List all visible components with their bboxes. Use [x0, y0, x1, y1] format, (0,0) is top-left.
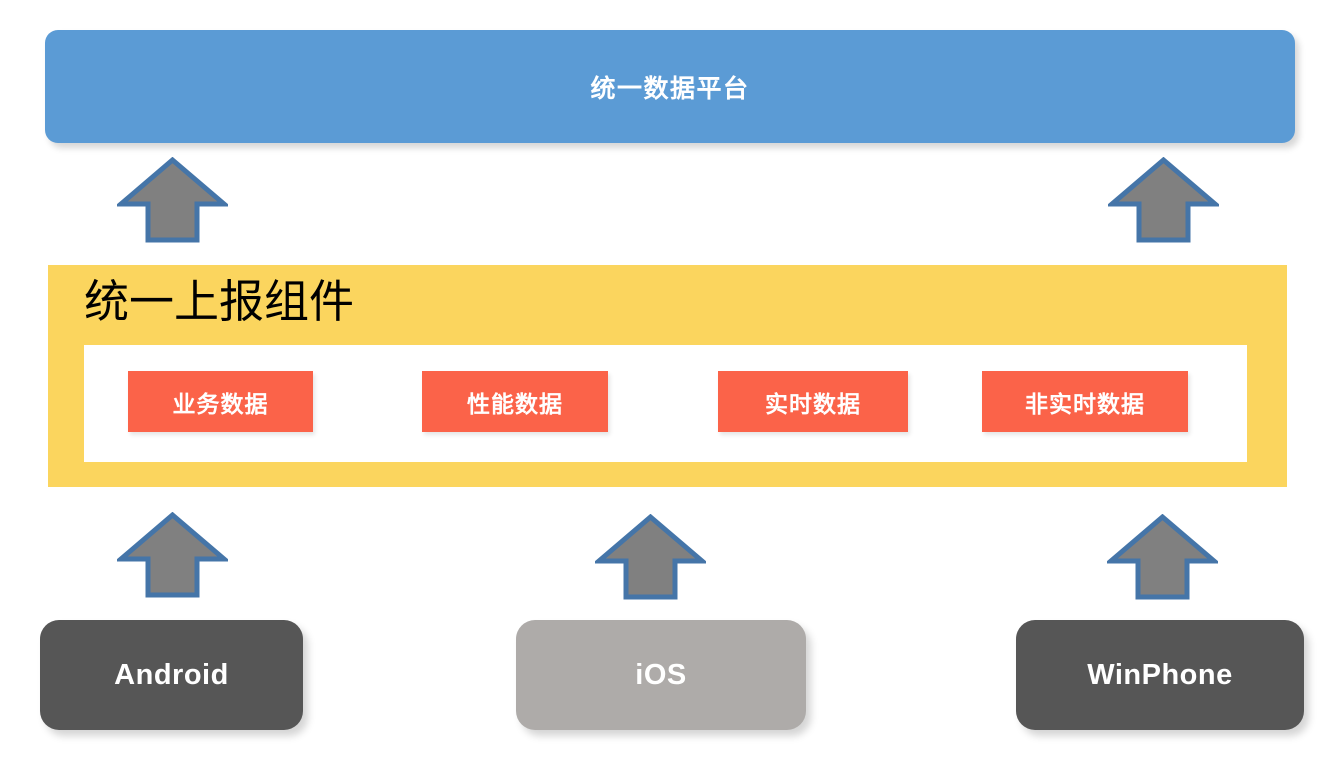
data-chip-label: 非实时数据	[1025, 385, 1145, 419]
arrow-up-icon-component-to-platform-right	[1108, 157, 1219, 243]
client-label: WinPhone	[1087, 659, 1233, 692]
arrow-up-icon-android-to-component	[117, 512, 228, 598]
data-chip-label: 性能数据	[467, 385, 563, 419]
unified-data-platform-label: 统一数据平台	[590, 69, 749, 105]
data-chip-realtime[interactable]: 实时数据	[718, 371, 908, 432]
client-label: Android	[114, 659, 229, 692]
unified-data-platform-box[interactable]: 统一数据平台	[45, 30, 1295, 143]
unified-reporting-component-title: 统一上报组件	[84, 273, 354, 331]
client-box-ios[interactable]: iOS	[516, 620, 806, 730]
client-box-winphone[interactable]: WinPhone	[1016, 620, 1304, 730]
data-chip-non-realtime[interactable]: 非实时数据	[982, 371, 1188, 432]
data-type-strip: 业务数据 性能数据 实时数据 非实时数据	[84, 345, 1247, 462]
data-chip-performance[interactable]: 性能数据	[422, 371, 608, 432]
client-label: iOS	[635, 659, 686, 692]
data-chip-business[interactable]: 业务数据	[128, 371, 313, 432]
client-box-android[interactable]: Android	[40, 620, 303, 730]
data-chip-label: 实时数据	[765, 385, 861, 419]
arrow-up-icon-component-to-platform-left	[117, 157, 228, 243]
arrow-up-icon-winphone-to-component	[1107, 514, 1218, 600]
unified-reporting-component-panel[interactable]: 统一上报组件 业务数据 性能数据 实时数据 非实时数据	[48, 265, 1287, 487]
architecture-diagram: 统一数据平台 统一上报组件 业务数据 性能数据 实时数据 非实时数据	[0, 0, 1326, 766]
data-chip-label: 业务数据	[173, 385, 269, 419]
arrow-up-icon-ios-to-component	[595, 514, 706, 600]
